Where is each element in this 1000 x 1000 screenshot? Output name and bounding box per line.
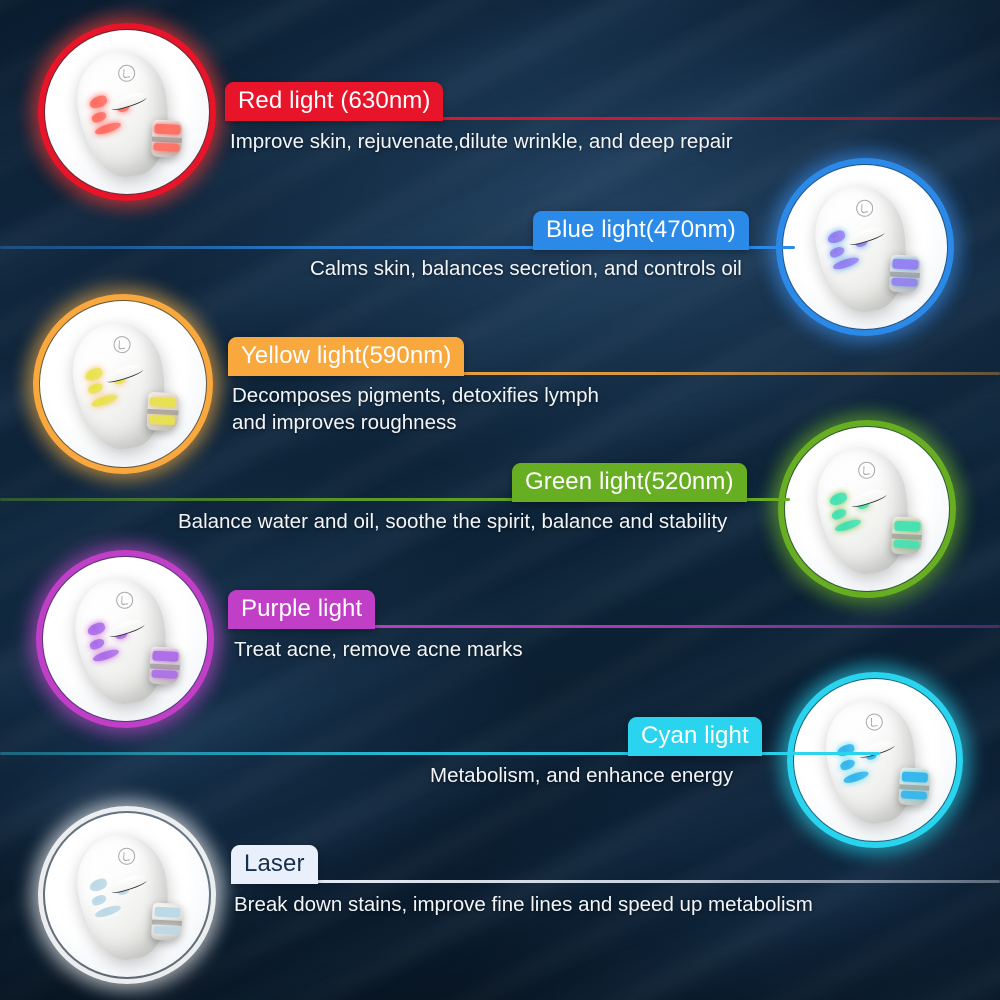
neck-band <box>152 919 182 926</box>
light-mode-description-laser: Break down stains, improve fine lines an… <box>234 891 934 918</box>
mask-photo-blue <box>776 158 954 336</box>
light-mode-badge-blue[interactable]: Blue light(470nm) <box>533 211 749 250</box>
neck-band <box>148 409 179 416</box>
mask-neck-attachment <box>151 902 183 941</box>
mask-neck-attachment <box>151 119 183 158</box>
light-mode-description-blue: Calms skin, balances secretion, and cont… <box>310 255 930 282</box>
mask-photo-laser <box>38 806 216 984</box>
neck-led-strip <box>155 907 181 918</box>
mask-photo-red <box>38 23 216 201</box>
mask-neck-attachment <box>147 391 180 430</box>
light-mode-badge-yellow[interactable]: Yellow light(590nm) <box>228 337 464 376</box>
neck-led-strip-2 <box>152 669 178 679</box>
neck-led-strip-2 <box>150 415 176 425</box>
mask-neck-attachment <box>149 646 181 685</box>
neck-led-strip-2 <box>154 142 180 152</box>
light-mode-description-cyan: Metabolism, and enhance energy <box>430 762 990 789</box>
light-mode-badge-green[interactable]: Green light(520nm) <box>512 463 747 502</box>
light-mode-badge-cyan[interactable]: Cyan light <box>628 717 762 756</box>
neck-band <box>152 136 182 143</box>
mask-photo-yellow <box>33 294 213 474</box>
light-mode-description-yellow: Decomposes pigments, detoxifies lymph an… <box>232 382 872 436</box>
mask-photo-purple <box>36 550 214 728</box>
neck-led-strip-2 <box>154 925 180 935</box>
light-mode-badge-red[interactable]: Red light (630nm) <box>225 82 443 121</box>
neck-led-strip-2 <box>894 539 920 549</box>
light-mode-description-green: Balance water and oil, soothe the spirit… <box>178 508 918 535</box>
neck-led-strip <box>153 651 179 662</box>
divider-line-laser <box>231 880 1000 883</box>
neck-led-strip-2 <box>901 790 927 799</box>
mask-photo-cyan <box>787 672 963 848</box>
light-mode-description-purple: Treat acne, remove acne marks <box>234 636 874 663</box>
neck-band <box>150 663 180 670</box>
light-mode-description-red: Improve skin, rejuvenate,dilute wrinkle,… <box>230 128 930 155</box>
neck-led-strip <box>155 124 181 135</box>
light-mode-badge-purple[interactable]: Purple light <box>228 590 375 629</box>
infographic-canvas: Red light (630nm)Improve skin, rejuvenat… <box>0 0 1000 1000</box>
light-mode-badge-laser[interactable]: Laser <box>231 845 318 884</box>
neck-led-strip <box>151 396 177 407</box>
